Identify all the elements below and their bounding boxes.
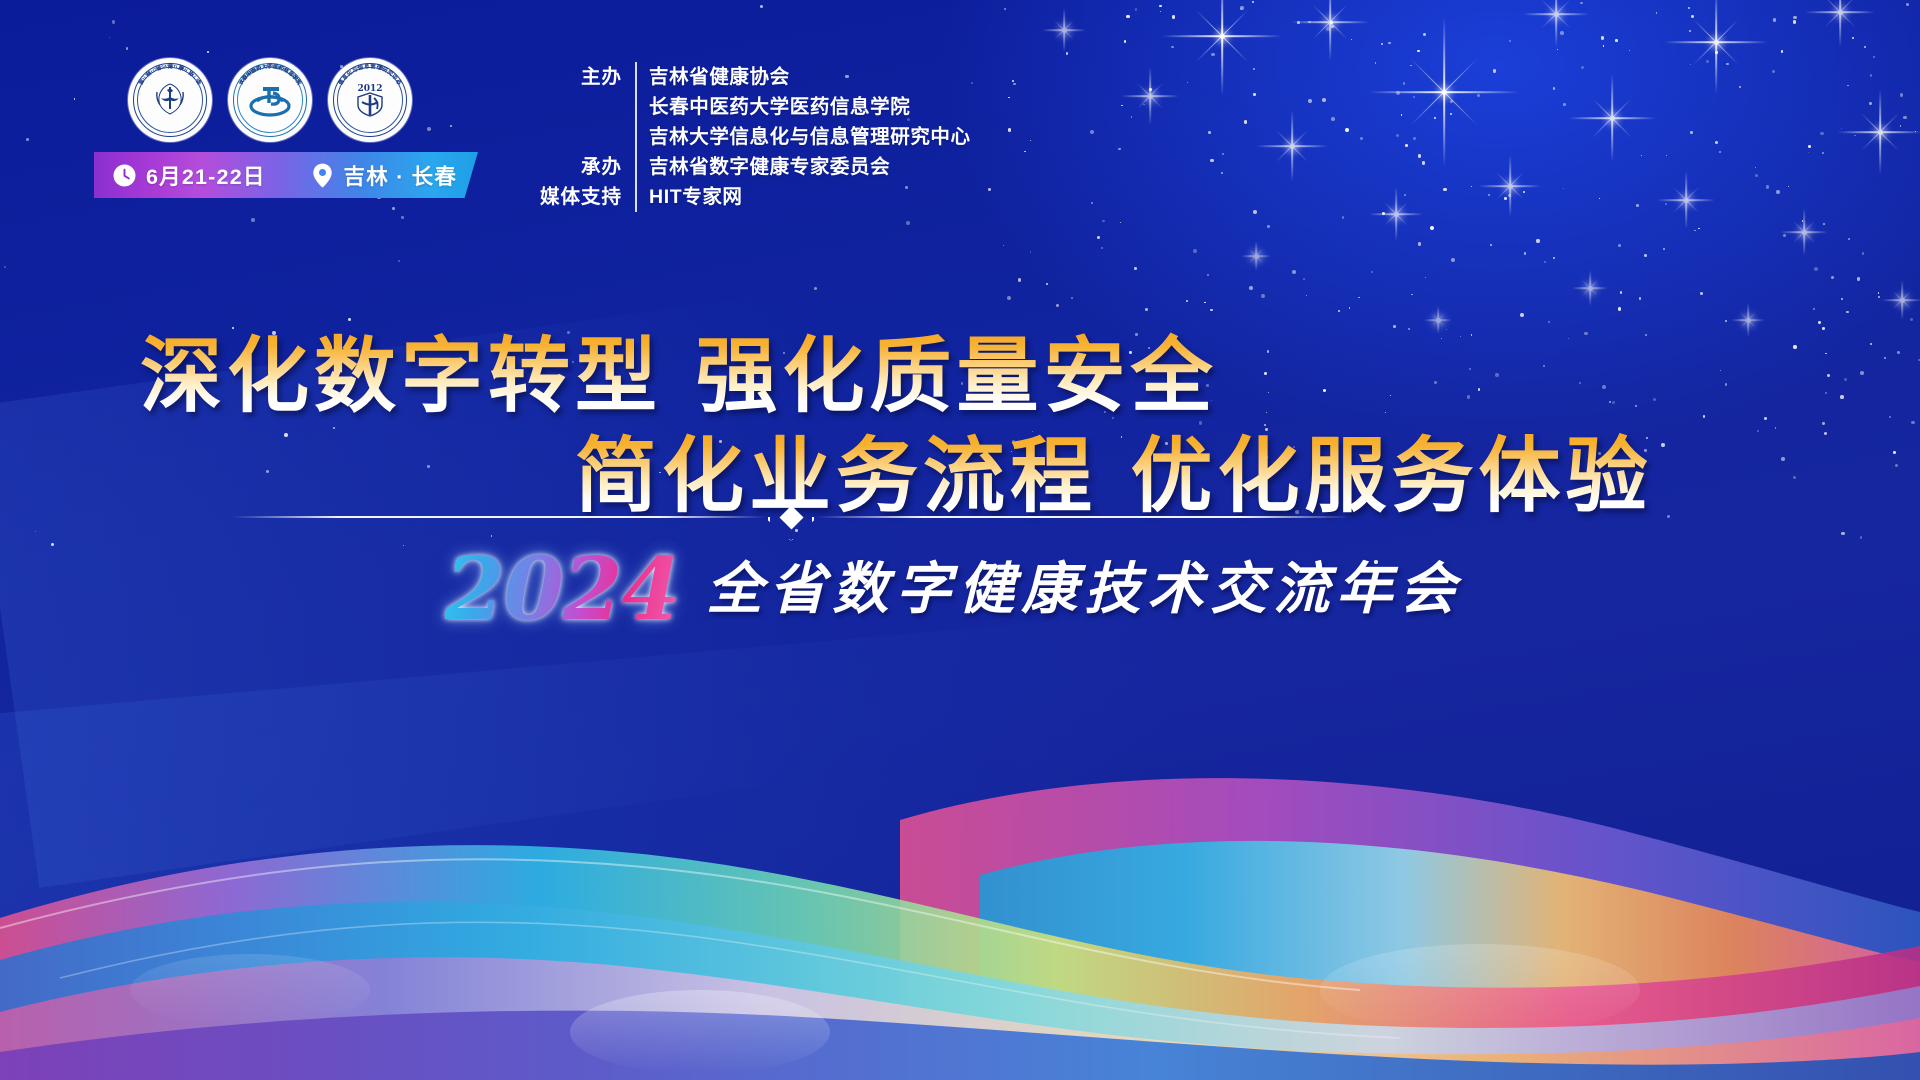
organizer-labels: 主办 承办 媒体支持: [540, 62, 635, 212]
star-dot: [1635, 405, 1637, 407]
star-dot: [1757, 430, 1759, 432]
star-dot: [1910, 318, 1913, 321]
star-dot: [1584, 332, 1587, 335]
star-dot: [1385, 412, 1386, 413]
star-dot: [1469, 368, 1471, 370]
star-dot: [1579, 382, 1581, 384]
star-dot: [1860, 536, 1863, 539]
organizer-value-2: 长春中医药大学医药信息学院: [649, 92, 971, 122]
star-dot: [1895, 464, 1898, 467]
star-dot: [1548, 321, 1550, 323]
star-dot: [1210, 309, 1212, 311]
star-dot: [1460, 336, 1461, 337]
star-dot: [1371, 271, 1373, 273]
star-dot: [1889, 416, 1891, 418]
star-dot: [1612, 401, 1615, 404]
star-dot: [1471, 334, 1473, 336]
star-dot: [1720, 370, 1721, 371]
star-dot: [1524, 252, 1526, 254]
headline-divider: [232, 516, 1350, 542]
star-dot: [1451, 258, 1455, 262]
star-dot: [1893, 451, 1896, 454]
organizer-value-5: HIT专家网: [649, 182, 971, 212]
star-dot: [1814, 267, 1818, 271]
star-dot: [1781, 457, 1785, 461]
star-dot: [1349, 307, 1351, 309]
organizer-credits: 主办 承办 媒体支持 吉林省健康协会 长春中医药大学医药信息学院 吉林大学信息化…: [540, 62, 971, 212]
star-dot: [1553, 257, 1555, 259]
date-location-bar: 6月21-22日 吉林 · 长春: [94, 152, 478, 198]
star-dot: [1186, 300, 1188, 302]
star-dot: [1775, 427, 1777, 429]
star-dot: [1323, 389, 1327, 393]
star-dot: [1007, 296, 1011, 300]
star-dot: [1446, 329, 1447, 330]
star-dot: [1358, 297, 1360, 299]
star-dot: [1303, 278, 1305, 280]
star-dot: [1822, 327, 1825, 330]
star-dot: [1292, 270, 1296, 274]
star-dot: [1071, 297, 1073, 299]
star-dot: [1268, 392, 1270, 394]
organizer-value-4: 吉林省数字健康专家委员会: [649, 152, 971, 182]
star-dot: [1411, 294, 1413, 296]
star-dot: [1824, 432, 1827, 435]
divider-bar-right: [816, 516, 1350, 518]
star-dot: [1846, 311, 1849, 314]
star-dot: [284, 433, 288, 437]
star-dot: [1266, 412, 1267, 413]
conference-banner: 吉林省健康协会JILIN HEALTH ASSOCIATION 长春中医药大学医…: [0, 0, 1920, 1080]
headline-line-1: 深化数字转型 强化质量安全: [140, 330, 1218, 423]
star-dot: [1844, 378, 1847, 381]
star-dot: [1390, 395, 1391, 396]
star-dot: [1434, 381, 1437, 384]
star-dot: [1703, 415, 1706, 418]
star-dot: [1831, 276, 1834, 279]
star-dot: [1267, 350, 1269, 352]
organizer-label-host: 承办: [540, 152, 635, 182]
location-segment: 吉林 · 长春: [310, 160, 458, 191]
star-dot: [1544, 261, 1546, 263]
organizer-label-main: 主办: [540, 62, 635, 92]
star-dot: [1725, 320, 1726, 321]
star-dot: [1639, 297, 1641, 299]
star-dot: [1408, 328, 1410, 330]
organizer-logos: 吉林省健康协会JILIN HEALTH ASSOCIATION 长春中医药大学医…: [128, 58, 412, 142]
star-dot: [1667, 515, 1670, 518]
star-dot: [1870, 343, 1872, 345]
star-dot: [1897, 351, 1900, 354]
health-association-emblem-icon: [145, 75, 195, 125]
star-dot: [403, 545, 405, 547]
star-dot: [1338, 310, 1340, 312]
star-dot: [1520, 313, 1524, 317]
star-dot: [1543, 365, 1545, 367]
star-dot: [1645, 334, 1648, 337]
star-dot: [1661, 443, 1665, 447]
headline-line-2: 简化业务流程 优化服务体验: [575, 430, 1653, 523]
star-dot: [4, 266, 7, 269]
banner-header: 吉林省健康协会JILIN HEALTH ASSOCIATION 长春中医药大学医…: [0, 0, 1920, 250]
star-dot: [1618, 307, 1621, 310]
star-dot: [1264, 424, 1266, 426]
star-dot: [1620, 291, 1622, 293]
star-dot: [35, 531, 36, 532]
star-dot: [1725, 383, 1728, 386]
star-dot: [1825, 353, 1827, 355]
star-dot: [348, 318, 351, 321]
star-dot: [814, 287, 817, 290]
star-dot: [1884, 357, 1886, 359]
star-sparkle-icon: [1572, 270, 1608, 306]
star-dot: [1700, 292, 1703, 295]
star-dot: [1495, 373, 1499, 377]
organizer-values: 吉林省健康协会 长春中医药大学医药信息学院 吉林大学信息化与信息管理研究中心 吉…: [636, 62, 971, 212]
star-dot: [1609, 401, 1611, 403]
date-segment: 6月21-22日: [112, 160, 266, 191]
wave-decoration: [0, 660, 1920, 1080]
jilin-health-association-logo: 吉林省健康协会JILIN HEALTH ASSOCIATION: [128, 58, 212, 142]
star-dot: [1393, 325, 1396, 328]
star-dot: [1264, 372, 1267, 375]
star-dot: [427, 465, 430, 468]
organizer-value-3: 吉林大学信息化与信息管理研究中心: [649, 122, 971, 152]
organizer-label-media: 媒体支持: [540, 182, 635, 212]
star-dot: [1249, 286, 1253, 290]
star-dot: [1822, 422, 1825, 425]
star-dot: [333, 427, 335, 429]
star-dot: [1145, 308, 1149, 312]
star-dot: [1478, 388, 1481, 391]
date-text: 6月21-22日: [146, 160, 266, 191]
star-dot: [1467, 395, 1470, 398]
star-sparkle-icon: [1882, 280, 1920, 320]
star-dot: [1602, 385, 1606, 389]
star-dot: [1207, 274, 1209, 276]
star-dot: [1793, 345, 1797, 349]
event-subtitle: 全省数字健康技术交流年会: [706, 544, 1462, 625]
star-dot: [1018, 278, 1021, 281]
star-dot: [1056, 304, 1059, 307]
star-dot: [1764, 417, 1767, 420]
star-dot: [1204, 302, 1206, 304]
informatization-center-emblem-icon: 2012: [344, 74, 396, 126]
star-dot: [51, 543, 54, 546]
star-dot: [1306, 295, 1307, 296]
star-dot: [1046, 283, 1048, 285]
star-dot: [1825, 392, 1827, 394]
star-dot: [1030, 251, 1031, 252]
star-dot: [1818, 321, 1821, 324]
star-dot: [1441, 338, 1442, 339]
star-dot: [1134, 267, 1137, 270]
changchun-university-cm-logo: 长春中医药大学医药信息学院SCHOOL OF MEDICAL INFORMATI…: [228, 58, 312, 142]
clock-icon: [112, 163, 137, 188]
star-dot: [1793, 476, 1796, 479]
subtitle-block: 2024 全省数字健康技术交流年会: [445, 544, 1462, 633]
star-dot: [1878, 292, 1879, 293]
star-dot: [1261, 294, 1265, 298]
star-sparkle-icon: [1731, 303, 1765, 337]
star-dot: [1827, 374, 1830, 377]
star-dot: [1862, 252, 1865, 255]
star-dot: [1841, 532, 1844, 535]
star-dot: [1857, 277, 1861, 281]
location-text: 吉林 · 长春: [344, 160, 458, 191]
star-dot: [398, 260, 400, 262]
location-pin-icon: [310, 162, 335, 189]
star-dot: [1860, 371, 1864, 375]
jilin-university-info-center-logo: 2012 信息化与信息管理研究中心吉林大学: [328, 58, 412, 142]
star-dot: [1644, 254, 1647, 257]
star-dot: [1878, 296, 1880, 298]
star-dot: [1911, 421, 1915, 425]
star-sparkle-icon: [1424, 306, 1452, 334]
star-dot: [1841, 298, 1843, 300]
star-dot: [1813, 308, 1815, 310]
medical-information-school-emblem-icon: [243, 73, 297, 127]
star-dot: [1425, 277, 1426, 278]
star-dot: [1840, 395, 1844, 399]
organizer-value-1: 吉林省健康协会: [649, 62, 971, 92]
star-dot: [1653, 398, 1656, 401]
star-dot: [266, 470, 269, 473]
divider-bar-left: [232, 516, 766, 518]
star-dot: [1568, 338, 1569, 339]
year-label: 2024: [445, 547, 680, 633]
